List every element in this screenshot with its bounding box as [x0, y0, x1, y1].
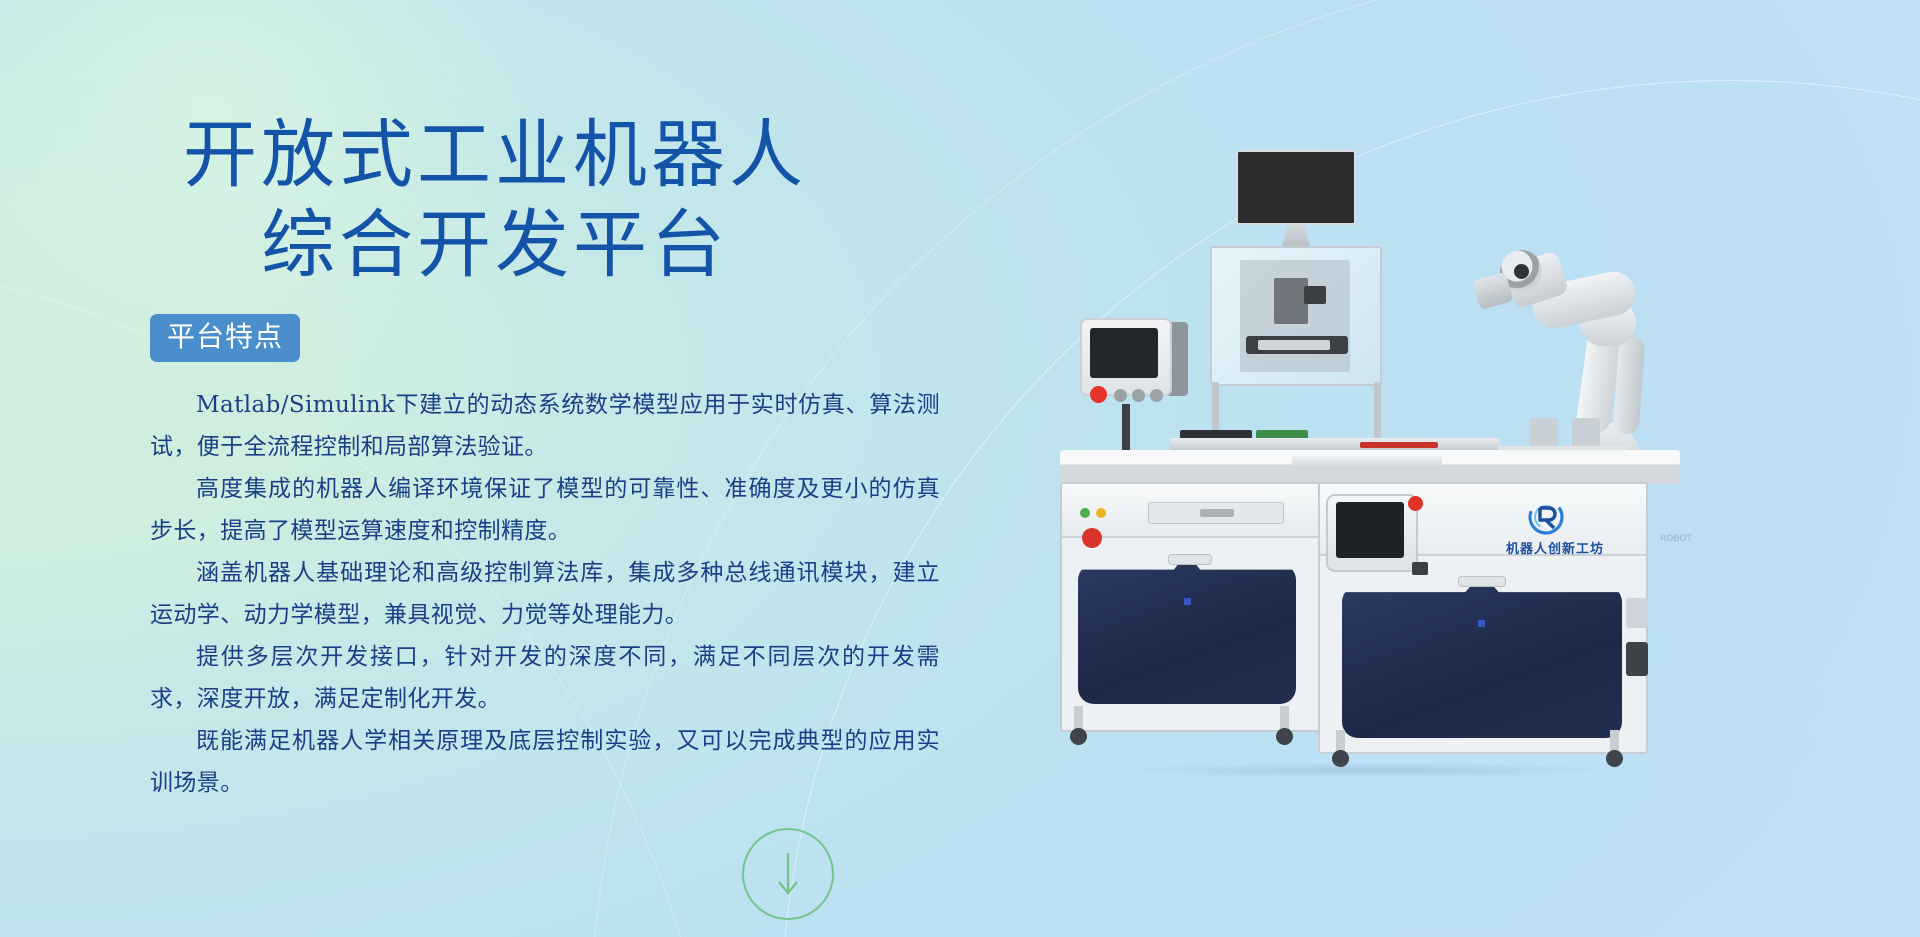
- teach-pendant-screen: [1336, 502, 1404, 558]
- hmi-support-pole: [1122, 404, 1130, 454]
- feature-paragraph-list: Matlab/Simulink下建立的动态系统数学模型应用于实时仿真、算法测试，…: [150, 384, 940, 804]
- cabinet-right-led: [1478, 620, 1485, 627]
- estop-button-icon: [1082, 528, 1102, 548]
- hero-content: 开放式工业机器人 综合开发平台 平台特点 Matlab/Simulink下建立的…: [150, 112, 940, 804]
- hmi-button: [1150, 389, 1163, 402]
- cabinet-side-port: [1626, 642, 1648, 676]
- feature-paragraph: 提供多层次开发接口，针对开发的深度不同，满足不同层次的开发需求，深度开放，满足定…: [150, 636, 940, 720]
- cabinet-right-door-handle: [1458, 576, 1506, 587]
- hmi-screen: [1090, 328, 1158, 378]
- cabinet-caster: [1276, 728, 1293, 745]
- robot-arm-flange-bore: [1514, 264, 1529, 279]
- monitor-stand: [1282, 225, 1310, 247]
- robot-arm-lower-link-rear: [1613, 335, 1646, 435]
- cabinet-left-door: [1078, 564, 1296, 704]
- status-indicator-yellow: [1096, 508, 1106, 518]
- cabinet-left-led: [1184, 598, 1191, 605]
- status-indicator-green: [1080, 508, 1090, 518]
- enclosure-rail-carriage: [1258, 340, 1330, 350]
- feature-paragraph: 涵盖机器人基础理论和高级控制算法库，集成多种总线通讯模块，建立运动学、动力学模型…: [150, 552, 940, 636]
- scroll-down-button[interactable]: [742, 828, 834, 920]
- cabinet-side-brand: ROBOT: [1660, 534, 1704, 550]
- cabinet-side-vent: [1626, 598, 1648, 628]
- cabinet-left-door-handle: [1168, 554, 1212, 565]
- hero-banner: 开放式工业机器人 综合开发平台 平台特点 Matlab/Simulink下建立的…: [0, 0, 1920, 937]
- page-title-line-2: 综合开发平台: [150, 202, 840, 288]
- enclosure-mechanism-head: [1304, 286, 1326, 304]
- hmi-button: [1132, 389, 1145, 402]
- teach-pendant-holder: [1412, 562, 1428, 575]
- emergency-stop-icon: [1090, 386, 1107, 403]
- robot-platform-illustration: 机器人创新工坊 ROBOT: [1060, 150, 1890, 790]
- brand-logo-text: 机器人创新工坊: [1480, 538, 1630, 557]
- hmi-button: [1114, 389, 1127, 402]
- teach-pendant-estop-icon: [1408, 496, 1423, 511]
- feature-paragraph: 既能满足机器人学相关原理及底层控制实验，又可以完成典型的应用实训场景。: [150, 720, 940, 804]
- machine-ground-shadow: [1050, 760, 1690, 780]
- cabinet-right-door: [1342, 586, 1622, 738]
- brand-logo: 机器人创新工坊: [1480, 498, 1630, 560]
- cabinet-drawer-handle: [1200, 509, 1234, 517]
- feature-paragraph: Matlab/Simulink下建立的动态系统数学模型应用于实时仿真、算法测试，…: [150, 384, 940, 468]
- display-monitor: [1236, 150, 1356, 225]
- feature-paragraph: 高度集成的机器人编译环境保证了模型的可靠性、准确度及更小的仿真步长，提高了模型运…: [150, 468, 940, 552]
- robot-r-logo-icon: [1518, 498, 1574, 538]
- enclosure-mechanism: [1274, 278, 1308, 324]
- arrow-down-icon: [775, 849, 801, 899]
- platform-features-badge: 平台特点: [150, 314, 300, 362]
- workbench-tray: [1292, 452, 1442, 468]
- page-title: 开放式工业机器人 综合开发平台: [150, 112, 840, 288]
- workbench-rail-stripe: [1360, 442, 1438, 448]
- cabinet-caster: [1070, 728, 1087, 745]
- page-title-line-1: 开放式工业机器人: [150, 112, 840, 198]
